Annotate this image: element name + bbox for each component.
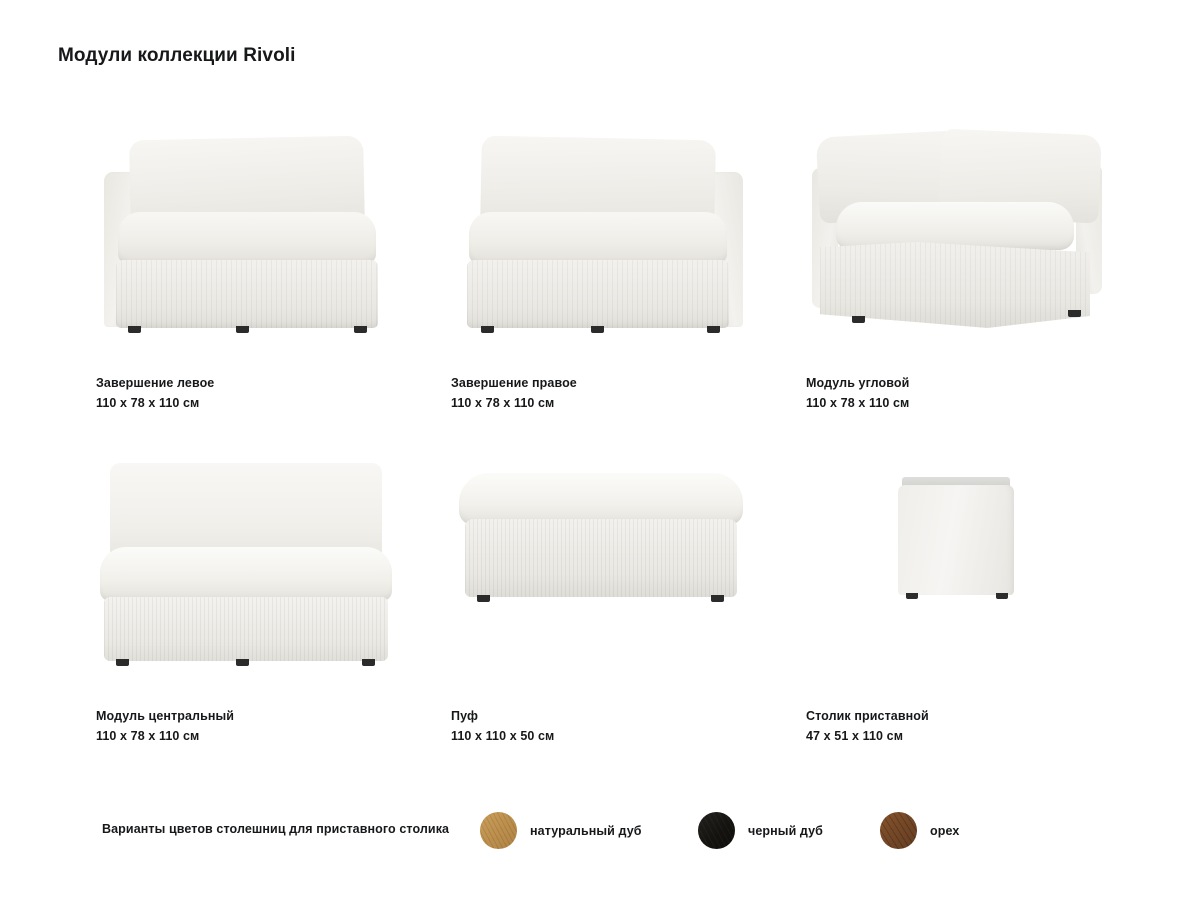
module-name: Модуль угловой [806, 374, 1116, 392]
module-caption: Завершение левое 110 x 78 x 110 см [96, 374, 406, 412]
sofa-seat-cushion [469, 212, 727, 264]
color-swatch-natural-oak-icon[interactable] [480, 812, 517, 849]
module-image-side-table [806, 453, 1106, 698]
module-card-side-table[interactable]: Столик приставной 47 x 51 x 110 см [768, 453, 1123, 786]
module-name: Пуф [451, 707, 761, 725]
legend-item-natural-oak[interactable]: натуральный дуб [480, 812, 642, 849]
legend-item-walnut[interactable]: орех [880, 812, 959, 849]
sofa-base [467, 260, 729, 328]
module-name: Модуль центральный [96, 707, 406, 725]
module-image-center [96, 453, 396, 698]
module-image-right-end [451, 120, 751, 365]
sofa-foot [591, 326, 604, 333]
sofa-seat-cushion [100, 547, 392, 601]
sofa-base [116, 260, 378, 328]
sofa-seat-cushion [836, 202, 1074, 250]
pouf-cushion [459, 473, 743, 525]
sofa-foot [354, 326, 367, 333]
module-dimensions: 47 x 51 x 110 см [806, 727, 1116, 745]
module-dimensions: 110 x 78 x 110 см [806, 394, 1116, 412]
side-table-foot [906, 593, 918, 599]
sofa-foot [707, 326, 720, 333]
legend-swatch-label: орех [930, 824, 959, 838]
tabletop-colors-legend: Варианты цветов столешниц для приставног… [58, 812, 1148, 852]
module-dimensions: 110 x 78 x 110 см [96, 394, 406, 412]
module-caption: Пуф 110 x 110 x 50 см [451, 707, 761, 745]
module-name: Завершение правое [451, 374, 761, 392]
legend-swatch-label: натуральный дуб [530, 824, 642, 838]
module-caption: Столик приставной 47 x 51 x 110 см [806, 707, 1116, 745]
page-title: Модули коллекции Rivoli [58, 45, 296, 67]
module-card-center[interactable]: Модуль центральный 110 x 78 x 110 см [58, 453, 413, 786]
module-card-left-end[interactable]: Завершение левое 110 x 78 x 110 см [58, 120, 413, 453]
sofa-foot [236, 659, 249, 666]
sofa-foot [1068, 310, 1081, 317]
legend-swatch-label: черный дуб [748, 824, 823, 838]
sofa-foot [362, 659, 375, 666]
module-dimensions: 110 x 78 x 110 см [451, 394, 761, 412]
sofa-seat-cushion [118, 212, 376, 264]
color-swatch-black-oak-icon[interactable] [698, 812, 735, 849]
side-table-foot [996, 593, 1008, 599]
module-name: Завершение левое [96, 374, 406, 392]
module-image-left-end [96, 120, 396, 365]
module-card-right-end[interactable]: Завершение правое 110 x 78 x 110 см [413, 120, 768, 453]
sofa-base [104, 597, 388, 661]
module-caption: Модуль угловой 110 x 78 x 110 см [806, 374, 1116, 412]
side-table-body [898, 485, 1014, 595]
pouf-base [465, 519, 737, 597]
sofa-foot [116, 659, 129, 666]
module-card-pouf[interactable]: Пуф 110 x 110 x 50 см [413, 453, 768, 786]
legend-item-black-oak[interactable]: черный дуб [698, 812, 823, 849]
pouf-foot [711, 595, 724, 602]
sofa-foot [852, 316, 865, 323]
sofa-foot [128, 326, 141, 333]
module-card-corner[interactable]: Модуль угловой 110 x 78 x 110 см [768, 120, 1123, 453]
module-caption: Модуль центральный 110 x 78 x 110 см [96, 707, 406, 745]
module-caption: Завершение правое 110 x 78 x 110 см [451, 374, 761, 412]
modules-grid: Завершение левое 110 x 78 x 110 см Завер… [58, 120, 1148, 786]
module-image-pouf [451, 453, 751, 698]
module-dimensions: 110 x 78 x 110 см [96, 727, 406, 745]
sofa-foot [236, 326, 249, 333]
color-swatch-walnut-icon[interactable] [880, 812, 917, 849]
sofa-foot [481, 326, 494, 333]
legend-label: Варианты цветов столешниц для приставног… [102, 822, 449, 836]
catalog-page: Модули коллекции Rivoli Завершение левое… [0, 0, 1200, 900]
module-dimensions: 110 x 110 x 50 см [451, 727, 761, 745]
pouf-foot [477, 595, 490, 602]
module-image-corner [806, 120, 1106, 365]
module-name: Столик приставной [806, 707, 1116, 725]
